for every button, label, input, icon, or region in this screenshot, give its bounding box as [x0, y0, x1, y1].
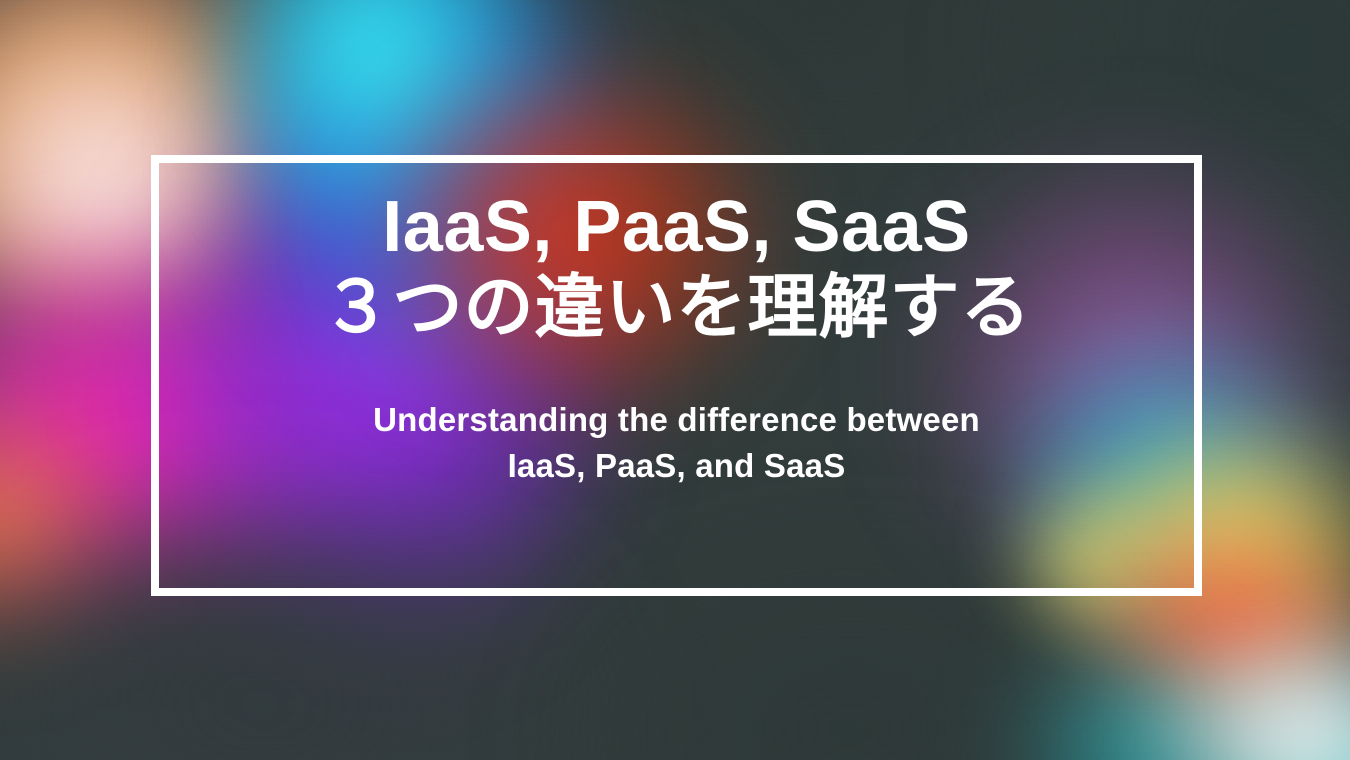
content-frame: IaaS, PaaS, SaaS ３つの違いを理解する Understandin…: [151, 155, 1202, 596]
subtitle-line-1: Understanding the difference between: [159, 397, 1194, 444]
page-title-line-1: IaaS, PaaS, SaaS: [159, 189, 1194, 266]
subtitle-block: Understanding the difference between Iaa…: [159, 397, 1194, 491]
title-block: IaaS, PaaS, SaaS ３つの違いを理解する: [159, 189, 1194, 349]
subtitle-line-2: IaaS, PaaS, and SaaS: [159, 443, 1194, 490]
slide-canvas: IaaS, PaaS, SaaS ３つの違いを理解する Understandin…: [0, 0, 1350, 760]
page-title-line-2: ３つの違いを理解する: [159, 266, 1194, 349]
